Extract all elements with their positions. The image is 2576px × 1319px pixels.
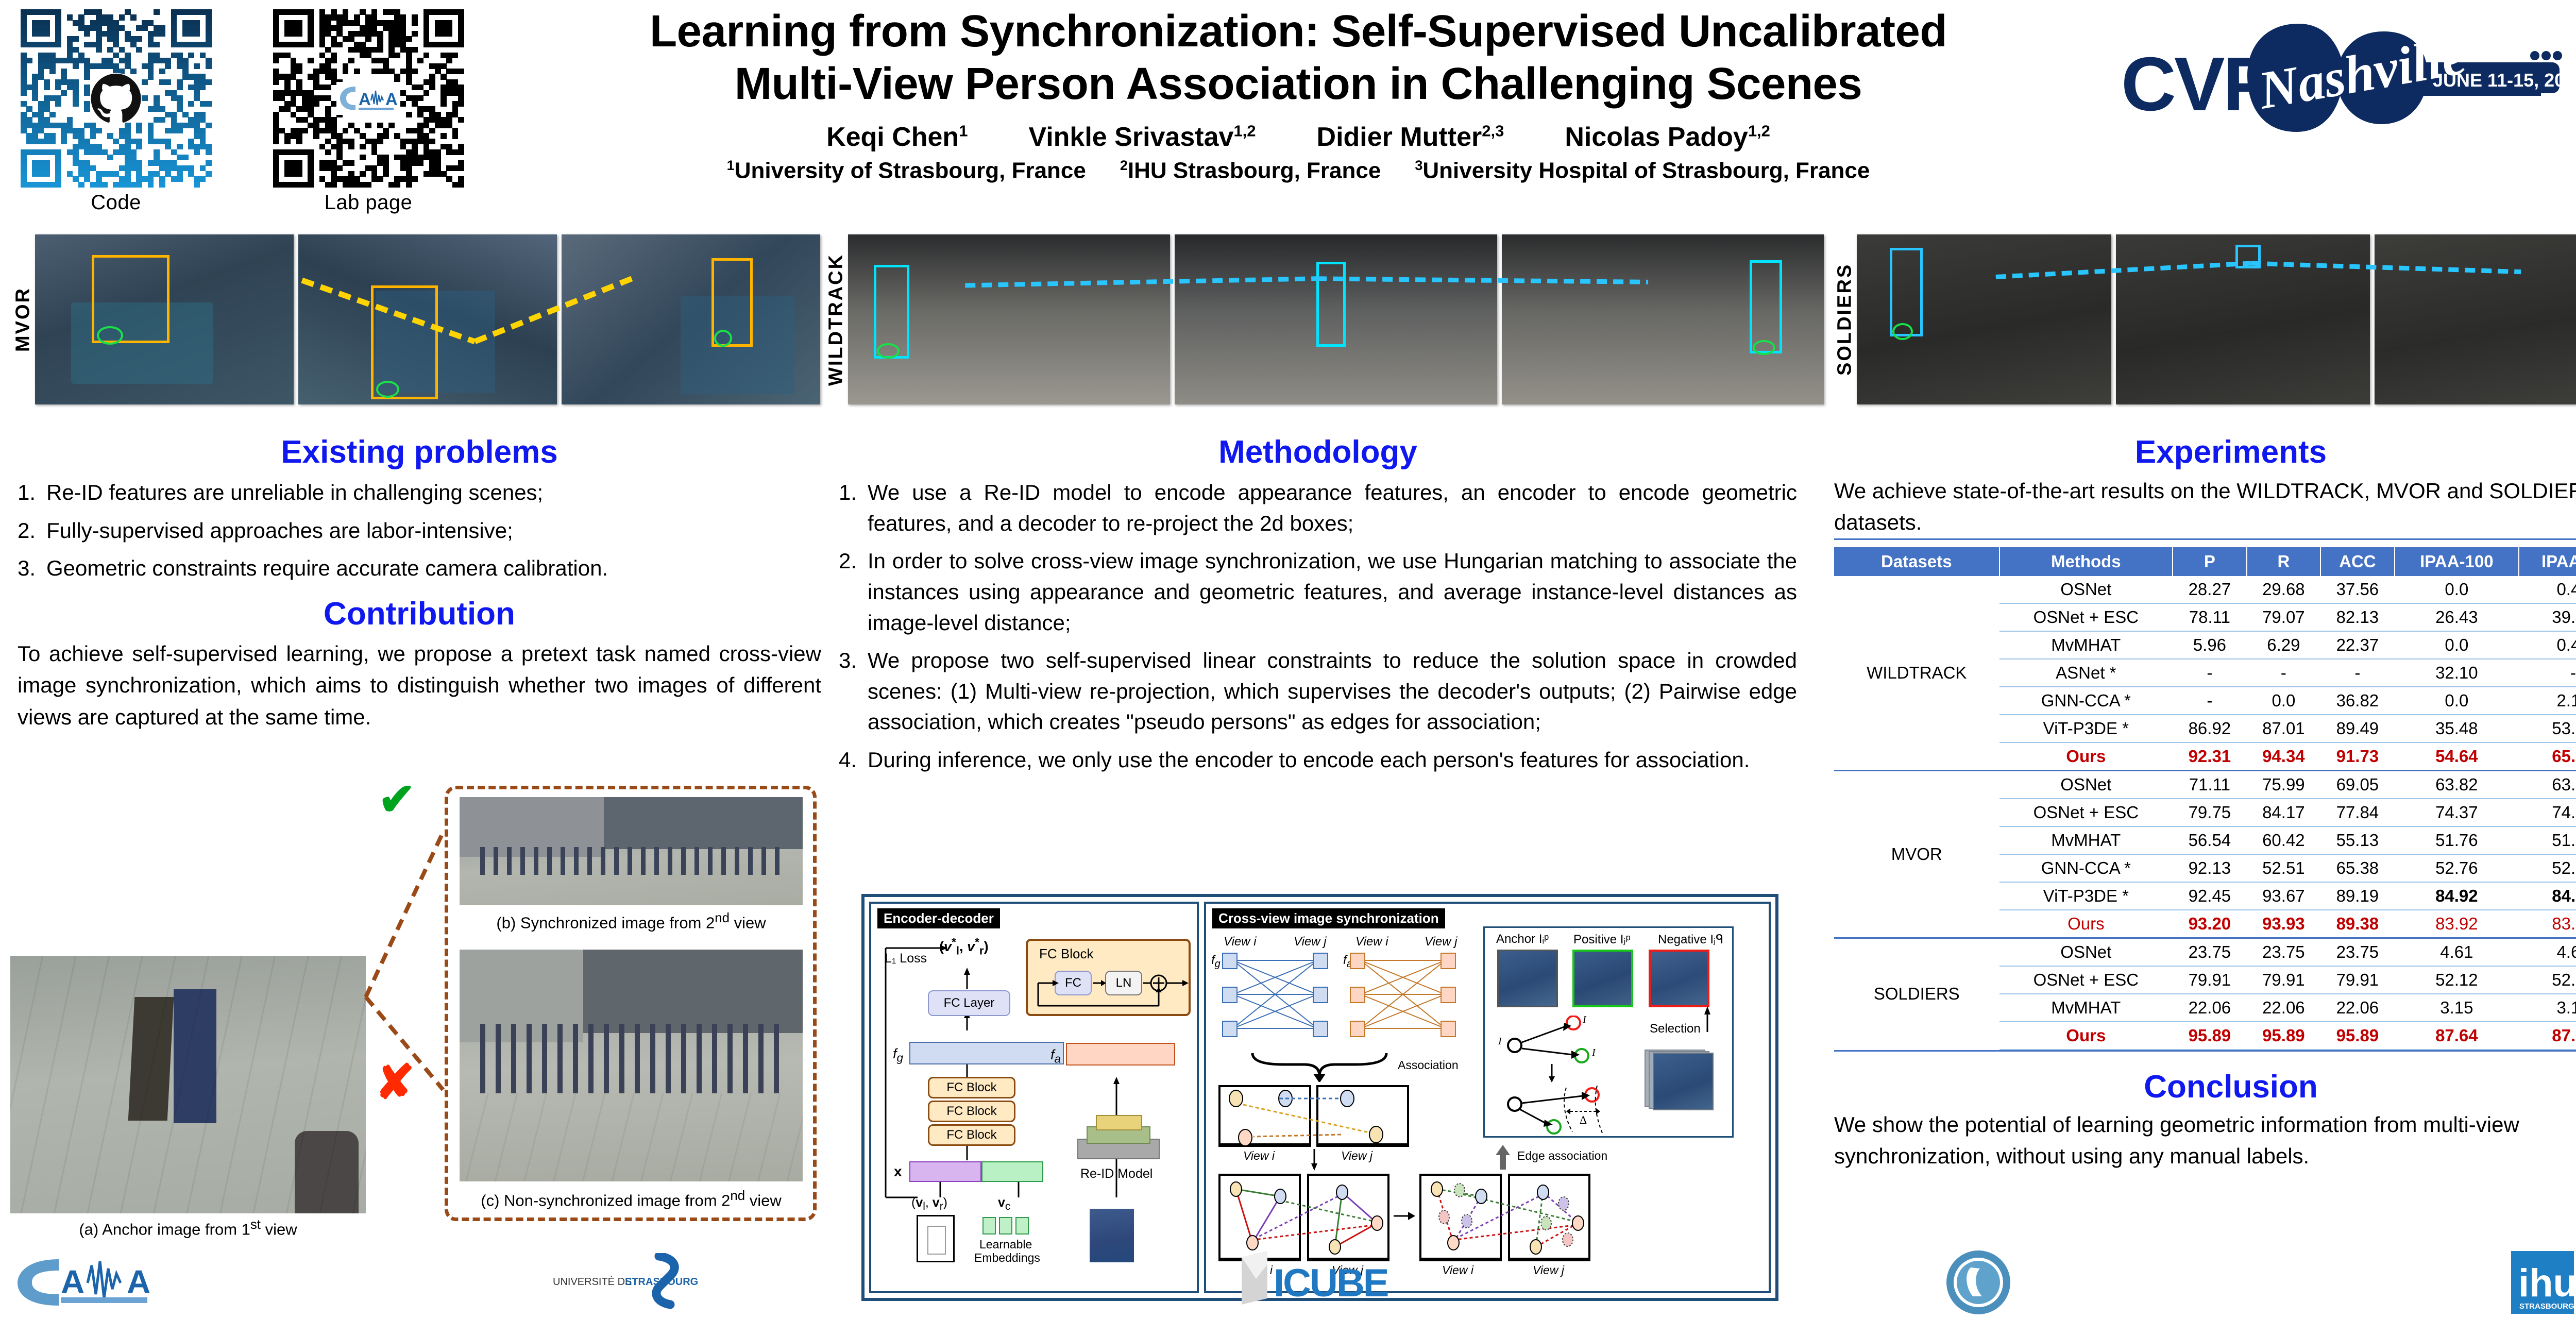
svg-text:A: A — [359, 90, 371, 109]
metric-cell: 36.82 — [2320, 687, 2395, 715]
anchor-thumbnail — [1497, 950, 1558, 1007]
qr-caption-lab-page: Lab page — [325, 191, 413, 214]
col-p: P — [2173, 547, 2247, 576]
cvpr-dates: JUNE 11-15, 2025 — [2433, 70, 2576, 91]
list-item: 1.Re-ID features are unreliable in chall… — [18, 477, 821, 508]
metric-cell: 0.0 — [2395, 687, 2519, 715]
metric-cell: 5.96 — [2173, 631, 2247, 659]
metric-cell: 82.13 — [2320, 603, 2395, 631]
metric-cell: 60.42 — [2247, 826, 2321, 854]
dataset-strip-label-mvor: MVOR — [11, 234, 35, 404]
metric-cell: 3.15 — [2395, 994, 2519, 1022]
svg-text:A: A — [127, 1263, 150, 1300]
metric-cell: 0.0 — [2395, 631, 2519, 659]
metric-cell: - — [2519, 659, 2576, 687]
svg-text:STRASBOURG: STRASBOURG — [2519, 1302, 2574, 1311]
results-table-body: WILDTRACKOSNet28.2729.6837.560.00.48OSNe… — [1834, 576, 2576, 1050]
svg-text:I: I — [1591, 1047, 1596, 1058]
list-item: 4.During inference, we only use the enco… — [839, 745, 1797, 775]
edge-graph-after — [1419, 1174, 1590, 1261]
metric-cell: 92.13 — [2173, 854, 2247, 882]
metric-cell: 75.99 — [2247, 770, 2321, 799]
learnable-embeddings-label-2: Embeddings — [974, 1251, 1040, 1265]
dataset-strip-label-soldiers: SOLDIERS — [1833, 234, 1857, 404]
dataset-image — [1175, 234, 1497, 404]
table-header-row: Datasets Methods P R ACC IPAA-100 IPAA-9… — [1834, 547, 2576, 576]
dataset-image — [2375, 234, 2576, 404]
poster-title-line2: Multi-View Person Association in Challen… — [531, 58, 2066, 110]
metric-cell: 39.40 — [2519, 603, 2576, 631]
input-v-label: (vl, vr) — [911, 1195, 947, 1213]
metric-cell: 22.06 — [2173, 994, 2247, 1022]
footer-logo-camma: A A — [14, 1253, 169, 1310]
metric-cell: 94.34 — [2247, 742, 2321, 771]
method-cell: Ours — [1999, 742, 2173, 771]
metric-cell: - — [2173, 687, 2247, 715]
middle-column: Methodology 1.We use a Re-ID model to en… — [839, 435, 1797, 783]
qr-code-zone: Code A A Lab page — [21, 9, 510, 226]
col-datasets: Datasets — [1834, 547, 1999, 576]
x-input-bar-right — [981, 1161, 1043, 1182]
view-j-label-app: View j — [1425, 935, 1458, 949]
methodology-list: 1.We use a Re-ID model to encode appeara… — [839, 477, 1797, 775]
metric-cell: 22.06 — [2320, 994, 2395, 1022]
method-cell: GNN-CCA * — [1999, 854, 2173, 882]
person-crop-image — [1090, 1209, 1134, 1262]
metric-cell: 84.92 — [2519, 882, 2576, 910]
qr-code-lab-page[interactable]: A A Lab page — [273, 9, 464, 226]
metric-cell: 93.93 — [2247, 910, 2321, 938]
encoder-decoder-panel: Encoder-decoder L₁ Loss (v*l, v*r) FC La… — [869, 902, 1199, 1293]
input-vc-label: vc — [998, 1195, 1010, 1213]
negative-label: Negative Iⱼᑫ — [1658, 932, 1723, 947]
box-glyph — [917, 1215, 955, 1262]
learnable-embeddings-cubes — [982, 1217, 1029, 1235]
metric-cell: 63.82 — [2395, 770, 2519, 799]
contribution-figure: (a) Anchor image from 1st view (b) Synch… — [5, 786, 819, 1234]
dataset-cell: SOLDIERS — [1834, 938, 1999, 1050]
view-j-label-assoc1: View j — [1341, 1149, 1372, 1163]
existing-problems-list: 1.Re-ID features are unreliable in chall… — [18, 477, 821, 584]
metric-cell: 32.10 — [2395, 659, 2519, 687]
method-cell: OSNet — [1999, 938, 2173, 966]
author-list: Keqi Chen1 Vinkle Srivastav1,2 Didier Mu… — [531, 122, 2066, 153]
metric-cell: 92.45 — [2173, 882, 2247, 910]
metric-cell: 74.37 — [2519, 799, 2576, 826]
svg-text:A: A — [385, 90, 398, 109]
metric-cell: 29.68 — [2247, 576, 2321, 603]
fa-label: fa — [1050, 1047, 1061, 1066]
metric-cell: 79.91 — [2173, 966, 2247, 994]
metric-cell: 89.19 — [2320, 882, 2395, 910]
selection-label: Selection — [1650, 1022, 1701, 1036]
title-block: Learning from Synchronization: Self-Supe… — [531, 5, 2066, 183]
footer-logo-icube: ICUBE — [1235, 1249, 1405, 1311]
col-methods: Methods — [1999, 547, 2173, 576]
affiliation-2: 2IHU Strasbourg, France — [1120, 158, 1381, 184]
dataset-image — [848, 234, 1170, 404]
metric-cell: 69.05 — [2320, 770, 2395, 799]
image-stack — [1645, 1050, 1722, 1111]
poster-root: Code A A Lab page Learning from Synchron… — [0, 0, 2576, 1319]
metric-cell: 65.38 — [2320, 854, 2395, 882]
qr-caption-code: Code — [91, 191, 141, 214]
metric-cell: 23.75 — [2320, 938, 2395, 966]
anchor-image — [10, 956, 366, 1213]
metric-cell: 0.0 — [2395, 576, 2519, 603]
svg-text:I: I — [1582, 1016, 1587, 1025]
figure-connector-arrows — [361, 801, 453, 1193]
section-heading-contribution: Contribution — [18, 597, 821, 631]
metric-cell: 6.29 — [2247, 631, 2321, 659]
metric-cell: 63.82 — [2519, 770, 2576, 799]
list-item: 2.Fully-supervised approaches are labor-… — [18, 515, 821, 546]
bipartite-graph-geometric — [1216, 951, 1474, 1054]
metric-cell: 37.56 — [2320, 576, 2395, 603]
affiliation-3: 3University Hospital of Strasbourg, Fran… — [1415, 158, 1870, 184]
dataset-strip-mvor: MVOR — [11, 234, 820, 404]
triplet-graph-before: I I I — [1495, 1016, 1650, 1067]
fc-block-3: FC Block — [928, 1124, 1015, 1146]
figure-caption-c: (c) Non-synchronized image from 2nd view — [460, 1189, 803, 1210]
list-item: 3.Geometric constraints require accurate… — [18, 553, 821, 584]
metric-cell: 0.0 — [2247, 687, 2321, 715]
metric-cell: 77.84 — [2320, 799, 2395, 826]
down-arrow — [1309, 1148, 1325, 1172]
metric-cell: 91.73 — [2320, 742, 2395, 771]
author-3: Didier Mutter2,3 — [1317, 122, 1504, 153]
metric-cell: 92.31 — [2173, 742, 2247, 771]
metric-cell: 79.07 — [2247, 603, 2321, 631]
metric-cell: 95.89 — [2173, 1022, 2247, 1050]
dataset-strip-label-wildtrack: WILDTRACK — [824, 234, 848, 404]
selection-up-arrow — [1701, 1005, 1717, 1034]
fc-block-2: FC Block — [928, 1101, 1015, 1122]
metric-cell: 87.64 — [2519, 1022, 2576, 1050]
metric-cell: 0.48 — [2519, 631, 2576, 659]
positive-label: Positive Iⱼᵖ — [1573, 932, 1631, 947]
method-cell: MvMHAT — [1999, 631, 2173, 659]
panel-title-encoder-decoder: Encoder-decoder — [877, 908, 1000, 928]
dataset-cell: MVOR — [1834, 770, 1999, 938]
learnable-embeddings-label-1: Learnable — [979, 1238, 1032, 1252]
metric-cell: 74.37 — [2395, 799, 2519, 826]
metric-cell: 83.92 — [2519, 910, 2576, 938]
affiliation-list: 1University of Strasbourg, France 2IHU S… — [531, 158, 2066, 184]
list-item: 1.We use a Re-ID model to encode appeara… — [839, 477, 1797, 538]
cross-view-sync-panel: Cross-view image synchronization View i … — [1204, 902, 1771, 1293]
metric-cell: 83.92 — [2395, 910, 2519, 938]
author-4: Nicolas Padoy1,2 — [1565, 122, 1770, 153]
cvpr-logo: CVPR Nashville JUNE 11-15, 2025 — [2093, 13, 2576, 142]
author-2: Vinkle Srivastav1,2 — [1028, 122, 1256, 153]
method-cell: OSNet + ESC — [1999, 603, 2173, 631]
table-row: MVOROSNet71.1175.9969.0563.8263.82 — [1834, 770, 2576, 799]
col-acc: ACC — [2320, 547, 2395, 576]
non-synchronized-image — [460, 950, 803, 1181]
footer-logo-ihu-strasbourg: ihu STRASBOURG — [2509, 1249, 2576, 1316]
method-cell: Ours — [1999, 910, 2173, 938]
col-ipaa90: IPAA-90 — [2519, 547, 2576, 576]
metric-cell: 95.89 — [2320, 1022, 2395, 1050]
svg-text:UNIVERSITÉ DE: UNIVERSITÉ DE — [553, 1276, 632, 1288]
method-cell: MvMHAT — [1999, 826, 2173, 854]
metric-cell: - — [2320, 659, 2395, 687]
left-column: Existing problems 1.Re-ID features are u… — [18, 435, 821, 733]
fg-feature-bar — [909, 1042, 1064, 1064]
contribution-text: To achieve self-supervised learning, we … — [18, 638, 821, 733]
view-j-label-edge-after: View j — [1533, 1263, 1564, 1277]
method-cell: OSNet + ESC — [1999, 966, 2173, 994]
metric-cell: 28.27 — [2173, 576, 2247, 603]
fg-label: fg — [893, 1046, 903, 1064]
metric-cell: - — [2173, 659, 2247, 687]
affiliation-1: 1University of Strasbourg, France — [727, 158, 1086, 184]
panel-title-cross-view-sync: Cross-view image synchronization — [1212, 908, 1445, 928]
dataset-cell: WILDTRACK — [1834, 576, 1999, 771]
metric-cell: 52.76 — [2519, 854, 2576, 882]
dataset-image — [35, 234, 294, 404]
metric-cell: 52.76 — [2395, 854, 2519, 882]
list-item: 3.We propose two self-supervised linear … — [839, 645, 1797, 737]
metric-cell: 22.37 — [2320, 631, 2395, 659]
metric-cell: - — [2247, 659, 2321, 687]
method-cell: Ours — [1999, 1022, 2173, 1050]
view-j-label-geo: View j — [1294, 935, 1327, 949]
svg-text:ICUBE: ICUBE — [1274, 1261, 1388, 1305]
method-cell: OSNet — [1999, 576, 2173, 603]
metric-cell: 23.75 — [2173, 938, 2247, 966]
fc-layer-block: FC Layer — [928, 990, 1010, 1016]
reid-model-label: Re-ID Model — [1080, 1166, 1153, 1181]
fc-block-legend: FC Block FC LN — [1026, 939, 1191, 1016]
view-i-label-assoc1: View i — [1243, 1149, 1275, 1163]
col-r: R — [2247, 547, 2321, 576]
view-i-label-app: View i — [1355, 935, 1388, 949]
positive-thumbnail — [1572, 950, 1633, 1007]
x-input-bar-left — [909, 1161, 981, 1182]
svg-text:A: A — [61, 1263, 84, 1300]
synchronized-image — [460, 797, 803, 905]
qr-code-image-code[interactable] — [21, 9, 211, 187]
section-heading-conclusion: Conclusion — [1834, 1070, 2576, 1104]
dataset-strip-wildtrack: WILDTRACK — [824, 234, 1824, 404]
metric-cell: 86.92 — [2173, 715, 2247, 742]
svg-text:ihu: ihu — [2518, 1261, 2576, 1305]
metric-cell: 93.67 — [2247, 882, 2321, 910]
method-cell: ViT-P3DE * — [1999, 715, 2173, 742]
metric-cell: 79.91 — [2247, 966, 2321, 994]
metric-cell: 89.49 — [2320, 715, 2395, 742]
dataset-image — [298, 234, 557, 404]
author-1: Keqi Chen1 — [826, 122, 968, 153]
metric-cell: 2.14 — [2519, 687, 2576, 715]
dataset-image — [1502, 234, 1824, 404]
metric-cell: 26.43 — [2395, 603, 2519, 631]
metric-cell: 35.48 — [2395, 715, 2519, 742]
metric-cell: 0.48 — [2519, 576, 2576, 603]
qr-code-code[interactable]: Code — [21, 9, 211, 226]
metric-cell: 93.20 — [2173, 910, 2247, 938]
experiments-intro: We achieve state-of-the-art results on t… — [1834, 475, 2576, 538]
dataset-image — [1857, 234, 2111, 404]
metric-cell: 4.61 — [2395, 938, 2519, 966]
metric-cell: 51.76 — [2395, 826, 2519, 854]
svg-text:Δ: Δ — [1580, 1113, 1587, 1126]
metric-cell: 56.54 — [2173, 826, 2247, 854]
section-heading-existing-problems: Existing problems — [18, 435, 821, 469]
architecture-diagram: Encoder-decoder L₁ Loss (v*l, v*r) FC La… — [861, 894, 1778, 1301]
metric-cell: 87.64 — [2395, 1022, 2519, 1050]
right-column: Experiments We achieve state-of-the-art … — [1834, 435, 2576, 1172]
edge-association-up-arrow — [1495, 1144, 1512, 1171]
camma-logo-icon: A A — [336, 82, 400, 115]
footer-logo-investissements-davenir — [1945, 1249, 2012, 1316]
metric-cell: 79.75 — [2173, 799, 2247, 826]
metric-cell: 84.92 — [2395, 882, 2519, 910]
metric-cell: 55.13 — [2320, 826, 2395, 854]
x-label: x — [894, 1163, 902, 1180]
triplet-graph-after: Δ — [1495, 1083, 1650, 1137]
poster-title-line1: Learning from Synchronization: Self-Supe… — [531, 5, 2066, 58]
svg-text:STRASBOURG: STRASBOURG — [625, 1276, 698, 1288]
github-icon — [89, 72, 143, 125]
method-cell: OSNet — [1999, 770, 2173, 799]
section-heading-experiments: Experiments — [1834, 435, 2576, 469]
method-cell: GNN-CCA * — [1999, 687, 2173, 715]
dataset-image — [2116, 234, 2370, 404]
metric-cell: 79.91 — [2320, 966, 2395, 994]
metric-cell: 3.15 — [2519, 994, 2576, 1022]
metric-cell: 51.76 — [2519, 826, 2576, 854]
negative-thumbnail — [1649, 950, 1709, 1007]
metric-cell: 71.11 — [2173, 770, 2247, 799]
metric-cell: 87.01 — [2247, 715, 2321, 742]
assoc-links-1 — [1218, 1085, 1410, 1147]
fa-feature-bar — [1066, 1043, 1175, 1066]
right-arrow — [1393, 1209, 1416, 1224]
method-cell: OSNet + ESC — [1999, 799, 2173, 826]
merge-brace — [1247, 1051, 1402, 1082]
metric-cell: 84.17 — [2247, 799, 2321, 826]
col-ipaa100: IPAA-100 — [2395, 547, 2519, 576]
metric-cell: 65.60 — [2519, 742, 2576, 771]
metric-cell: 95.89 — [2247, 1022, 2321, 1050]
footer-logo-unistra: UNIVERSITÉ DE STRASBOURG — [549, 1253, 734, 1310]
table-row: WILDTRACKOSNet28.2729.6837.560.00.48 — [1834, 576, 2576, 603]
fc-block-1: FC Block — [928, 1077, 1015, 1098]
metric-cell: 53.10 — [2519, 715, 2576, 742]
reid-model-stack — [1077, 1112, 1160, 1159]
figure-caption-b: (b) Synchronized image from 2nd view — [460, 911, 803, 932]
method-cell: MvMHAT — [1999, 994, 2173, 1022]
view-i-label-edge-after: View i — [1442, 1263, 1473, 1277]
list-item: 2.In order to solve cross-view image syn… — [839, 546, 1797, 638]
figure-caption-a: (a) Anchor image from 1st view — [10, 1217, 366, 1239]
association-label: Association — [1398, 1058, 1459, 1072]
metric-cell: 4.61 — [2519, 938, 2576, 966]
metric-cell: 89.38 — [2320, 910, 2395, 938]
metric-cell: 22.06 — [2247, 994, 2321, 1022]
anchor-label: Anchor Iᵢᵖ — [1496, 932, 1549, 946]
metric-cell: 54.64 — [2395, 742, 2519, 771]
qr-code-image-lab-page[interactable]: A A — [273, 9, 464, 187]
metric-cell: 52.12 — [2519, 966, 2576, 994]
results-table-wrapper: Datasets Methods P R ACC IPAA-100 IPAA-9… — [1834, 538, 2576, 1052]
view-i-label-geo: View i — [1224, 935, 1257, 949]
metric-cell: 23.75 — [2247, 938, 2321, 966]
method-cell: ViT-P3DE * — [1999, 882, 2173, 910]
svg-text:I: I — [1498, 1036, 1502, 1047]
triplet-selection-subpanel: Anchor Iᵢᵖ Positive Iⱼᵖ Negative Iⱼᑫ I I… — [1483, 926, 1734, 1138]
edge-association-label: Edge association — [1517, 1149, 1607, 1163]
dataset-strip-soldiers: SOLDIERS — [1833, 234, 2576, 404]
edge-graph-before — [1218, 1174, 1389, 1261]
triplet-down-arrow — [1547, 1063, 1562, 1084]
conclusion-text: We show the potential of learning geomet… — [1834, 1109, 2576, 1172]
metric-cell: 52.12 — [2395, 966, 2519, 994]
dataset-image — [562, 234, 820, 404]
method-cell: ASNet * — [1999, 659, 2173, 687]
table-row: SOLDIERSOSNet23.7523.7523.754.614.61 — [1834, 938, 2576, 966]
section-heading-methodology: Methodology — [839, 435, 1797, 469]
metric-cell: 52.51 — [2247, 854, 2321, 882]
results-table: Datasets Methods P R ACC IPAA-100 IPAA-9… — [1834, 547, 2576, 1050]
metric-cell: 78.11 — [2173, 603, 2247, 631]
